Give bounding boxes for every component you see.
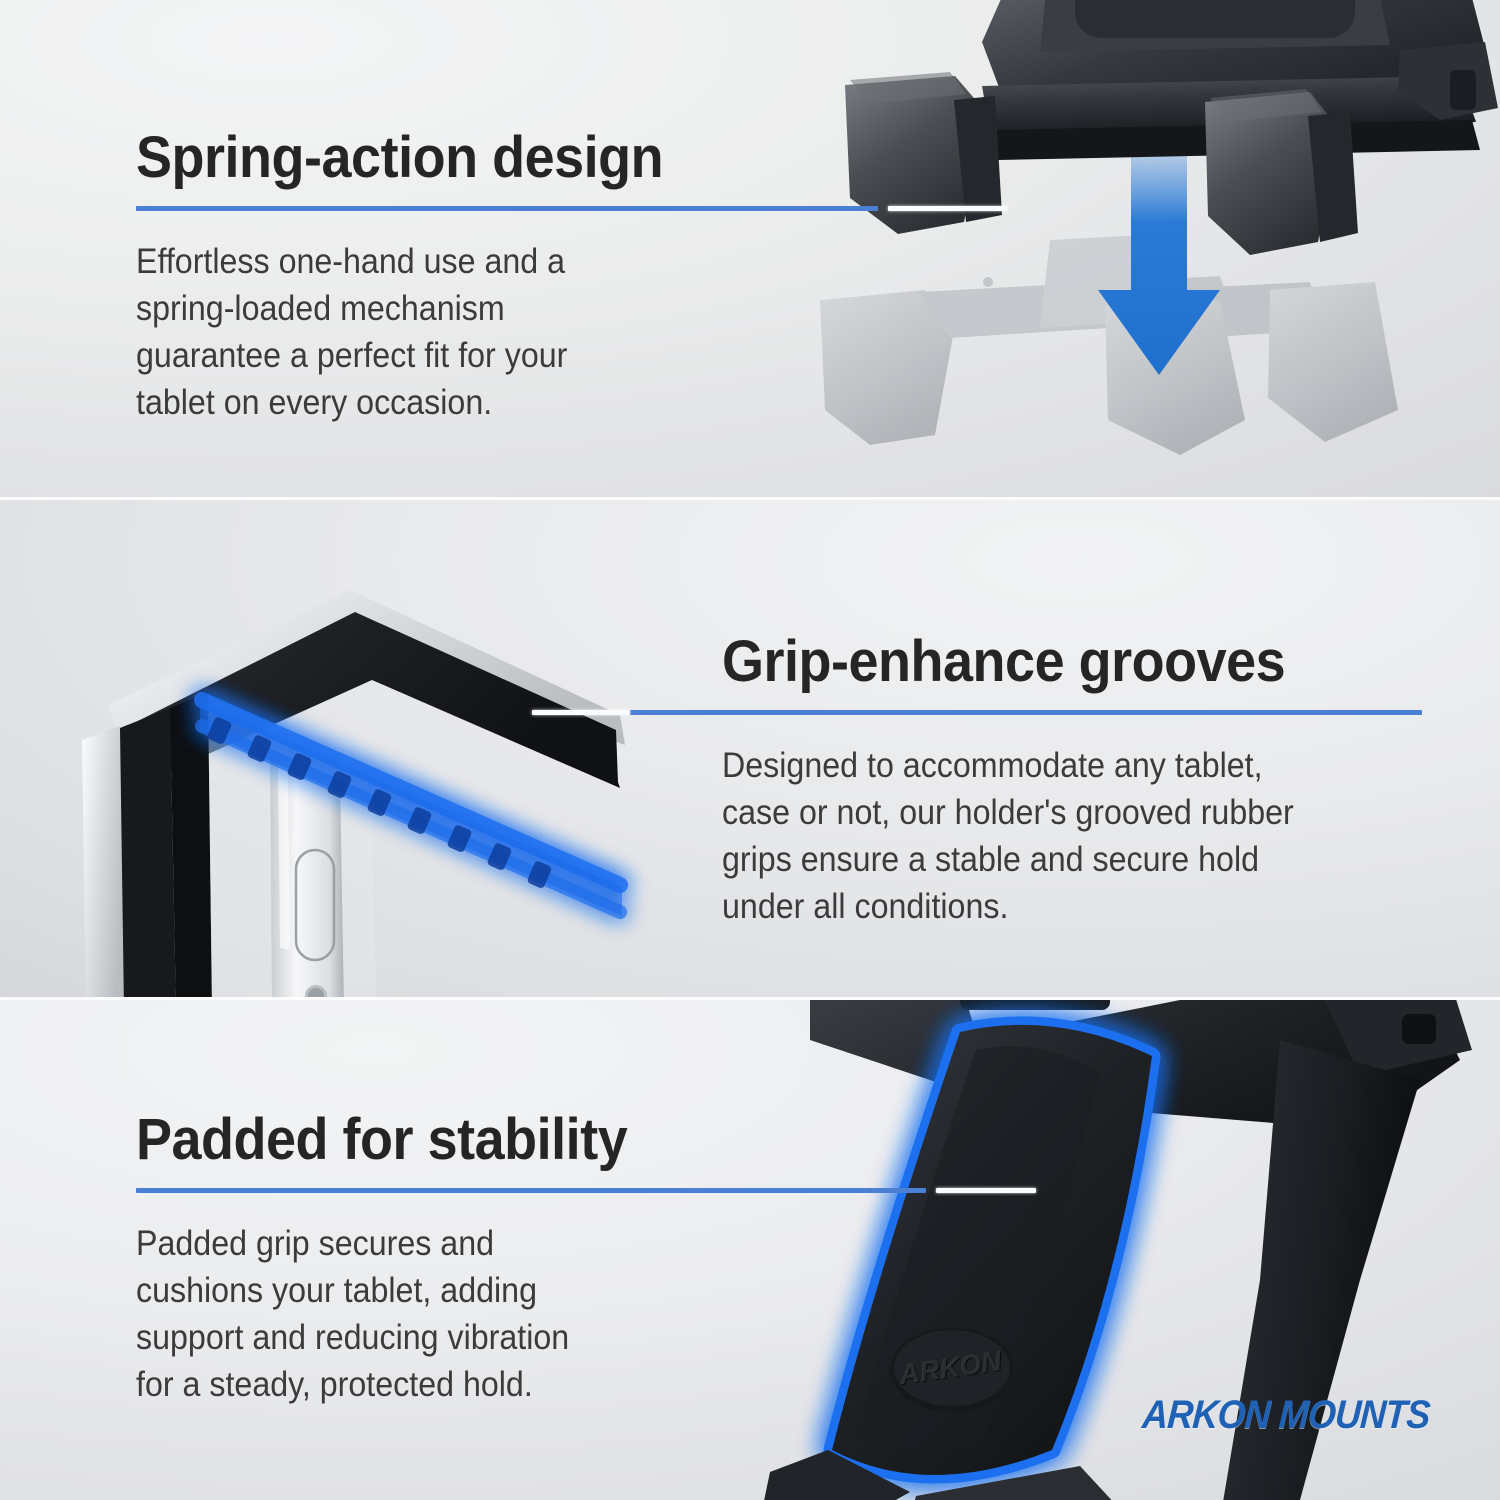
accent-rule-white [936, 1188, 1036, 1193]
arkon-mounts-logo: ARKON MOUNTS [1141, 1393, 1431, 1438]
panel-body: Designed to accommodate any tablet, case… [722, 743, 1421, 931]
accent-rule-blue [136, 1188, 926, 1193]
feature-panel-spring-action: Spring-action design Effortless one-hand… [0, 0, 1500, 497]
ghost-holder-position [820, 235, 1398, 455]
accent-rule [722, 707, 1452, 717]
panel-body: Effortless one-hand use and a spring-loa… [136, 239, 706, 427]
accent-rule-blue [136, 206, 878, 211]
accent-rule-white [532, 710, 630, 715]
infographic-sheet: Spring-action design Effortless one-hand… [0, 0, 1500, 1500]
accent-rule [136, 1185, 896, 1195]
accent-rule-blue [622, 710, 1422, 715]
panel-divider [0, 497, 1500, 500]
accent-rule [136, 203, 876, 213]
panel-divider [0, 997, 1500, 1000]
product-image-grip-grooves [20, 530, 720, 997]
accent-rule-white [888, 206, 1008, 211]
feature-text-spring-action: Spring-action design Effortless one-hand… [136, 128, 876, 426]
panel-body: Padded grip secures and cushions your ta… [136, 1221, 725, 1409]
feature-text-grip-grooves: Grip-enhance grooves Designed to accommo… [722, 632, 1452, 930]
feature-panel-grip-grooves: Grip-enhance grooves Designed to accommo… [0, 500, 1500, 997]
panel-heading: Spring-action design [136, 128, 824, 189]
arkon-emblem: ARKON ARKON [890, 1328, 1014, 1412]
panel-heading: Grip-enhance grooves [722, 632, 1401, 693]
panel-heading: Padded for stability [136, 1110, 843, 1171]
feature-panel-padded-stability: ARKON ARKON Padded for stability Padded … [0, 1000, 1500, 1500]
feature-text-padded-stability: Padded for stability Padded grip secures… [136, 1110, 896, 1408]
